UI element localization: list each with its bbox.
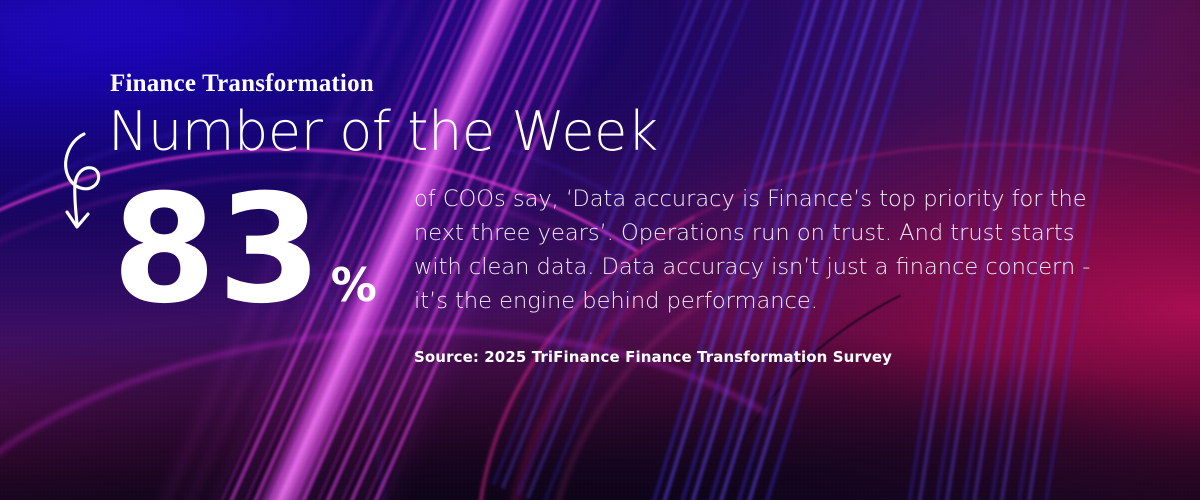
stat-figure: 83 % [112,184,377,316]
body-copy: of COOs say, ‘Data accuracy is Finance’s… [414,182,1120,318]
eyebrow-label: Finance Transformation [110,70,374,98]
page-title: Number of the Week [108,103,658,160]
stat-unit: % [331,262,377,308]
number-of-the-week-banner: Finance Transformation Number of the Wee… [0,0,1200,500]
banner-content: Finance Transformation Number of the Wee… [0,0,1200,500]
source-label: Source: 2025 TriFinance Finance Transfor… [414,348,892,366]
stat-value: 83 [112,184,323,316]
